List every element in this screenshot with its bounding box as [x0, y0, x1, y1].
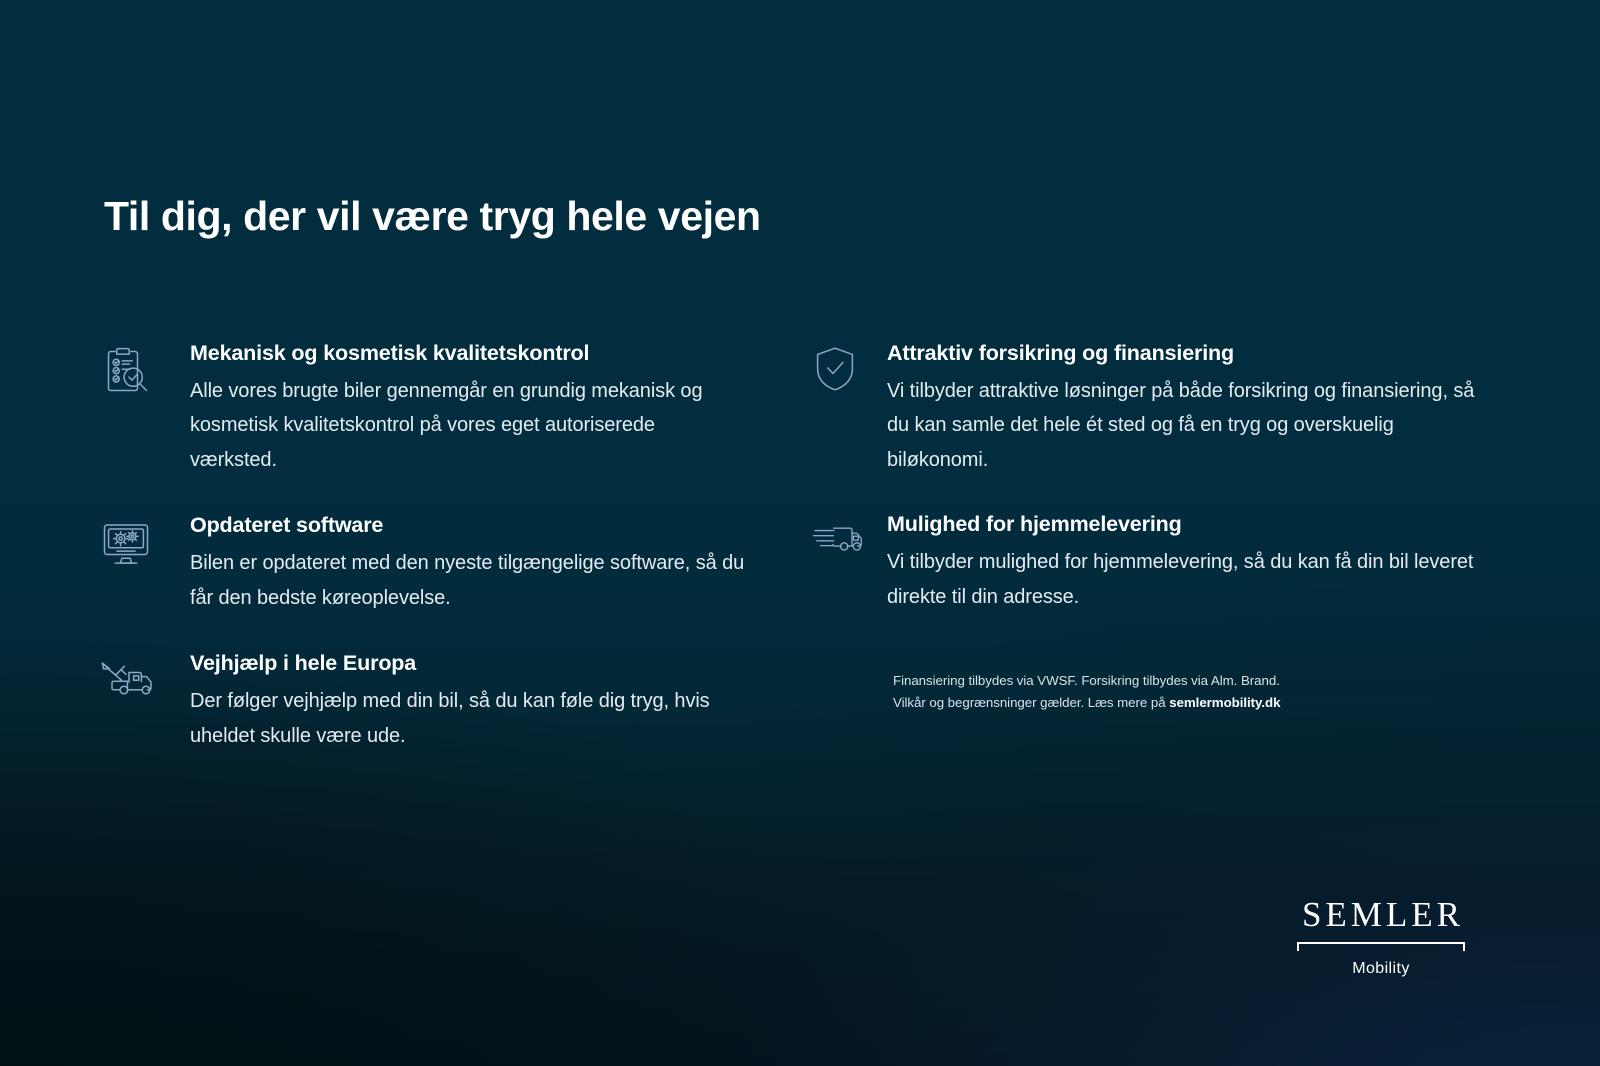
- logo-subtitle: Mobility: [1297, 960, 1465, 978]
- semler-mobility-logo: SEMLER Mobility: [1297, 897, 1465, 978]
- feature-description: Vi tilbyder attraktive løsninger på både…: [887, 374, 1480, 478]
- feature-text: Vejhjælp i hele Europa Der følger vejhjæ…: [159, 650, 745, 753]
- feature-item-roadside-assistance: Vejhjælp i hele Europa Der følger vejhjæ…: [95, 650, 745, 753]
- feature-text: Mekanisk og kosmetisk kvalitetskontrol A…: [159, 340, 745, 477]
- feature-text: Mulighed for hjemmelevering Vi tilbyder …: [864, 511, 1480, 614]
- feature-title: Vejhjælp i hele Europa: [190, 650, 745, 677]
- logo-wordmark: SEMLER: [1297, 897, 1465, 932]
- feature-item-software: Opdateret software Bilen er opdateret me…: [95, 512, 745, 615]
- feature-description: Alle vores brugte biler gennemgår en gru…: [190, 374, 745, 478]
- feature-column-right: Attraktiv forsikring og finansiering Vi …: [800, 340, 1480, 648]
- clipboard-checklist-magnifier-icon: [95, 344, 159, 400]
- feature-description: Vi tilbyder mulighed for hjemmelevering,…: [887, 545, 1480, 614]
- feature-description: Bilen er opdateret med den nyeste tilgæn…: [190, 546, 745, 615]
- feature-title: Attraktiv forsikring og finansiering: [887, 340, 1480, 367]
- feature-title: Mekanisk og kosmetisk kvalitetskontrol: [190, 340, 745, 367]
- semlermobility-link[interactable]: semlermobility.dk: [1169, 695, 1280, 710]
- promo-panel: Til dig, der vil være tryg hele vejen: [0, 0, 1600, 1066]
- feature-description: Der følger vejhjælp med din bil, så du k…: [190, 684, 745, 753]
- feature-item-insurance-financing: Attraktiv forsikring og finansiering Vi …: [800, 340, 1480, 477]
- disclaimer-line-2-prefix: Vilkår og begrænsninger gælder. Læs mere…: [893, 695, 1169, 710]
- tow-truck-icon: [95, 654, 159, 710]
- legal-disclaimer: Finansiering tilbydes via VWSF. Forsikri…: [893, 670, 1413, 713]
- shield-check-icon: [800, 344, 864, 400]
- disclaimer-line-1: Finansiering tilbydes via VWSF. Forsikri…: [893, 673, 1280, 688]
- monitor-gears-icon: [95, 516, 159, 572]
- feature-text: Attraktiv forsikring og finansiering Vi …: [864, 340, 1480, 477]
- feature-item-home-delivery: Mulighed for hjemmelevering Vi tilbyder …: [800, 511, 1480, 614]
- logo-bracket-rule: [1297, 942, 1465, 951]
- feature-title: Mulighed for hjemmelevering: [887, 511, 1480, 538]
- delivery-truck-icon: [800, 515, 864, 571]
- feature-text: Opdateret software Bilen er opdateret me…: [159, 512, 745, 615]
- feature-item-quality-control: Mekanisk og kosmetisk kvalitetskontrol A…: [95, 340, 745, 477]
- logo-tick-left: [1297, 942, 1299, 951]
- logo-tick-right: [1463, 942, 1465, 951]
- feature-column-left: Mekanisk og kosmetisk kvalitetskontrol A…: [95, 340, 745, 788]
- page-title: Til dig, der vil være tryg hele vejen: [104, 193, 761, 240]
- feature-title: Opdateret software: [190, 512, 745, 539]
